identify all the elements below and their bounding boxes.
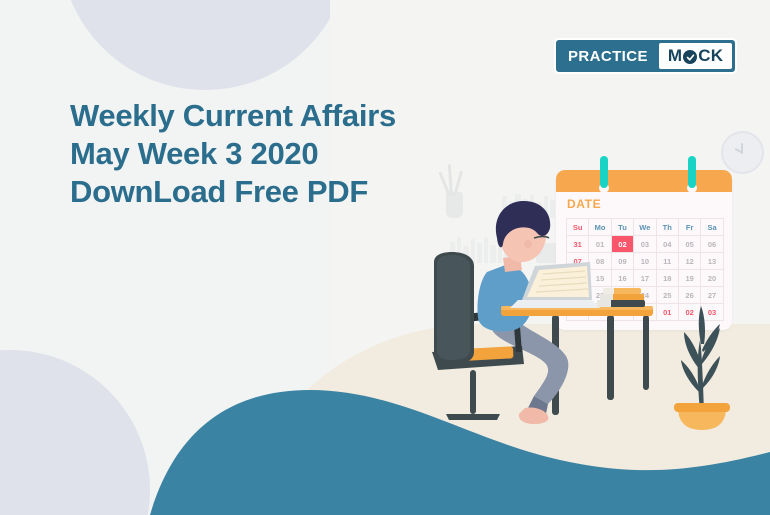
potted-plant-icon	[0, 0, 770, 515]
calendar-binder-ring	[688, 156, 696, 188]
logo-mock-badge: M CK	[659, 43, 732, 69]
calendar-binder-ring	[600, 156, 608, 188]
logo-practice-text: PRACTICE	[556, 40, 659, 72]
poster-canvas: DATE Su Mo Tu We Th Fr Sa 31010203040506…	[0, 0, 770, 515]
logo-mock-prefix: M	[668, 46, 682, 66]
practicemock-logo[interactable]: PRACTICE M CK	[554, 38, 737, 74]
logo-mock-suffix: CK	[698, 46, 723, 66]
page-title: Weekly Current Affairs May Week 3 2020 D…	[70, 97, 450, 210]
check-icon	[683, 50, 697, 64]
